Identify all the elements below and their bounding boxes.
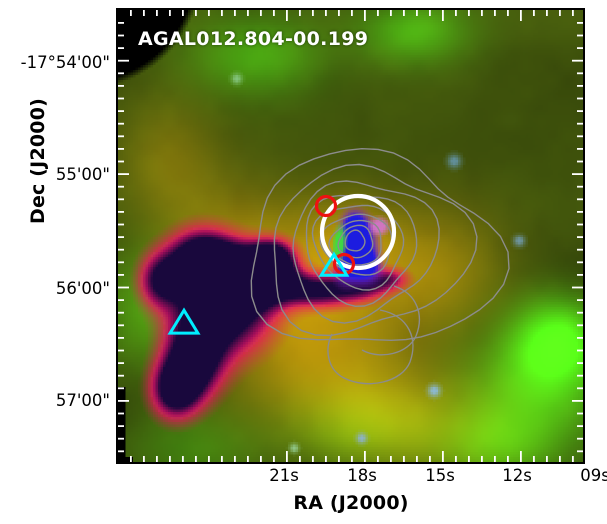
- tick-mark: [247, 10, 249, 16]
- tick-mark: [468, 456, 470, 462]
- tick-mark: [455, 456, 457, 462]
- tick-mark: [118, 211, 124, 213]
- contour-level-2: [293, 181, 439, 323]
- tick-mark: [390, 10, 392, 16]
- tick-mark: [351, 10, 353, 16]
- tick-mark: [325, 10, 327, 16]
- x-axis-title: RA (J2000): [118, 492, 584, 514]
- tick-mark: [533, 10, 535, 16]
- tick-mark: [577, 387, 583, 389]
- tick-mark: [577, 450, 583, 452]
- tick-group: [118, 10, 583, 462]
- tick-mark: [572, 287, 583, 289]
- tick-mark: [577, 438, 583, 440]
- tick-mark: [195, 10, 197, 16]
- tick-mark: [577, 148, 583, 150]
- tick-mark: [182, 10, 184, 16]
- tick-mark: [156, 10, 158, 16]
- tick-mark: [273, 10, 275, 16]
- tick-mark: [442, 10, 444, 21]
- tick-mark: [208, 456, 210, 462]
- tick-mark: [208, 10, 210, 16]
- tick-mark: [118, 261, 124, 263]
- y-tick-label-0: -17°54'00": [0, 53, 110, 72]
- tick-mark: [494, 10, 496, 16]
- tick-mark: [118, 324, 124, 326]
- tick-mark: [118, 274, 124, 276]
- tick-mark: [118, 312, 124, 314]
- tick-mark: [286, 451, 288, 462]
- tick-mark: [312, 10, 314, 16]
- tick-mark: [577, 123, 583, 125]
- tick-mark: [481, 10, 483, 16]
- tick-mark: [577, 198, 583, 200]
- tick-mark: [429, 10, 431, 16]
- tick-mark: [416, 456, 418, 462]
- tick-mark: [577, 110, 583, 112]
- tick-mark: [577, 337, 583, 339]
- tick-mark: [577, 186, 583, 188]
- tick-mark: [118, 337, 124, 339]
- tick-mark: [577, 324, 583, 326]
- contour-group: [251, 149, 509, 384]
- tick-mark: [118, 299, 124, 301]
- tick-mark: [416, 10, 418, 16]
- tick-mark: [299, 10, 301, 16]
- tick-mark: [118, 249, 124, 251]
- tick-mark: [260, 456, 262, 462]
- tick-mark: [577, 211, 583, 213]
- contour-lobe-inner: [362, 286, 419, 355]
- tick-mark: [143, 10, 145, 16]
- tick-mark: [118, 47, 124, 49]
- tick-mark: [118, 236, 124, 238]
- tick-mark: [572, 456, 574, 462]
- tick-mark: [118, 198, 124, 200]
- tick-mark: [299, 456, 301, 462]
- tick-mark: [577, 249, 583, 251]
- tick-mark: [364, 451, 366, 462]
- tick-mark: [377, 456, 379, 462]
- tick-mark: [118, 135, 124, 137]
- tick-mark: [338, 456, 340, 462]
- tick-mark: [377, 10, 379, 16]
- tick-mark: [118, 98, 124, 100]
- tick-mark: [118, 413, 124, 415]
- tick-mark: [577, 35, 583, 37]
- tick-mark: [577, 274, 583, 276]
- tick-mark: [577, 236, 583, 238]
- tick-mark: [118, 161, 124, 163]
- tick-mark: [118, 123, 124, 125]
- y-tick-label-1: 55'00": [0, 165, 110, 184]
- tick-mark: [118, 438, 124, 440]
- contour-level-8: [345, 230, 365, 251]
- tick-mark: [118, 375, 124, 377]
- tick-mark: [118, 287, 129, 289]
- tick-mark: [234, 10, 236, 16]
- tick-mark: [195, 456, 197, 462]
- tick-mark: [338, 10, 340, 16]
- tick-mark: [577, 85, 583, 87]
- tick-mark: [442, 451, 444, 462]
- tick-mark: [559, 10, 561, 16]
- tick-mark: [577, 161, 583, 163]
- tick-mark: [577, 135, 583, 137]
- tick-mark: [247, 456, 249, 462]
- tick-mark: [520, 10, 522, 21]
- tick-mark: [494, 456, 496, 462]
- tick-mark: [577, 312, 583, 314]
- tick-mark: [351, 456, 353, 462]
- sky-image-panel: AGAL012.804-00.199: [118, 10, 583, 462]
- tick-mark: [118, 60, 129, 62]
- tick-mark: [118, 110, 124, 112]
- tick-mark: [577, 413, 583, 415]
- tick-mark: [455, 10, 457, 16]
- x-tick-label-3: 12s: [502, 466, 532, 485]
- tick-mark: [364, 10, 366, 21]
- tick-mark: [577, 47, 583, 49]
- tick-mark: [577, 350, 583, 352]
- tick-mark: [572, 173, 583, 175]
- tick-mark: [577, 72, 583, 74]
- tick-mark: [403, 456, 405, 462]
- tick-mark: [577, 425, 583, 427]
- tick-mark: [118, 450, 124, 452]
- tick-mark: [468, 10, 470, 16]
- tick-mark: [481, 456, 483, 462]
- figure-root: Dec (J2000) RA (J2000) -17°54'00"55'00"5…: [0, 0, 607, 524]
- tick-mark: [156, 456, 158, 462]
- tick-mark: [169, 456, 171, 462]
- tick-mark: [118, 148, 124, 150]
- tick-mark: [169, 10, 171, 16]
- source-title: AGAL012.804-00.199: [138, 28, 368, 50]
- tick-mark: [260, 10, 262, 16]
- tick-mark: [577, 362, 583, 364]
- tick-mark: [577, 22, 583, 24]
- tick-mark: [507, 456, 509, 462]
- tick-mark: [507, 10, 509, 16]
- tick-mark: [130, 10, 132, 16]
- tick-mark: [130, 456, 132, 462]
- tick-mark: [118, 72, 124, 74]
- tick-mark: [221, 10, 223, 16]
- overlay-layer: [118, 10, 583, 462]
- tick-mark: [577, 224, 583, 226]
- tick-mark: [533, 456, 535, 462]
- tick-mark: [118, 387, 124, 389]
- tick-mark: [546, 456, 548, 462]
- y-tick-label-3: 57'00": [0, 391, 110, 410]
- contour-lobe-outer: [328, 310, 413, 384]
- tick-mark: [390, 456, 392, 462]
- tick-mark: [118, 186, 124, 188]
- tick-mark: [577, 299, 583, 301]
- tick-mark: [577, 98, 583, 100]
- tick-mark: [182, 456, 184, 462]
- tick-mark: [520, 451, 522, 462]
- tick-mark: [118, 22, 124, 24]
- tick-mark: [429, 456, 431, 462]
- tick-mark: [118, 85, 124, 87]
- x-tick-label-1: 18s: [347, 466, 377, 485]
- tick-mark: [273, 456, 275, 462]
- tick-mark: [572, 10, 574, 16]
- tick-mark: [325, 456, 327, 462]
- x-tick-label-0: 21s: [269, 466, 299, 485]
- contour-level-1: [274, 165, 477, 336]
- tick-mark: [312, 456, 314, 462]
- tick-mark: [572, 400, 583, 402]
- y-axis-title: Dec (J2000): [27, 61, 49, 261]
- tick-mark: [221, 456, 223, 462]
- tick-mark: [118, 400, 129, 402]
- tick-mark: [577, 375, 583, 377]
- tick-mark: [559, 456, 561, 462]
- x-tick-label-4: 09s: [580, 466, 607, 485]
- tick-mark: [143, 456, 145, 462]
- tick-mark: [118, 350, 124, 352]
- cyan-source-west-marker[interactable]: [170, 310, 198, 333]
- tick-mark: [403, 10, 405, 16]
- contour-level-0: [251, 149, 509, 341]
- tick-mark: [572, 60, 583, 62]
- tick-mark: [118, 35, 124, 37]
- tick-mark: [234, 456, 236, 462]
- tick-mark: [286, 10, 288, 21]
- tick-mark: [118, 425, 124, 427]
- y-tick-label-2: 56'00": [0, 279, 110, 298]
- tick-mark: [118, 362, 124, 364]
- tick-mark: [118, 173, 129, 175]
- tick-mark: [546, 10, 548, 16]
- tick-mark: [577, 261, 583, 263]
- tick-mark: [118, 224, 124, 226]
- x-tick-label-2: 15s: [425, 466, 455, 485]
